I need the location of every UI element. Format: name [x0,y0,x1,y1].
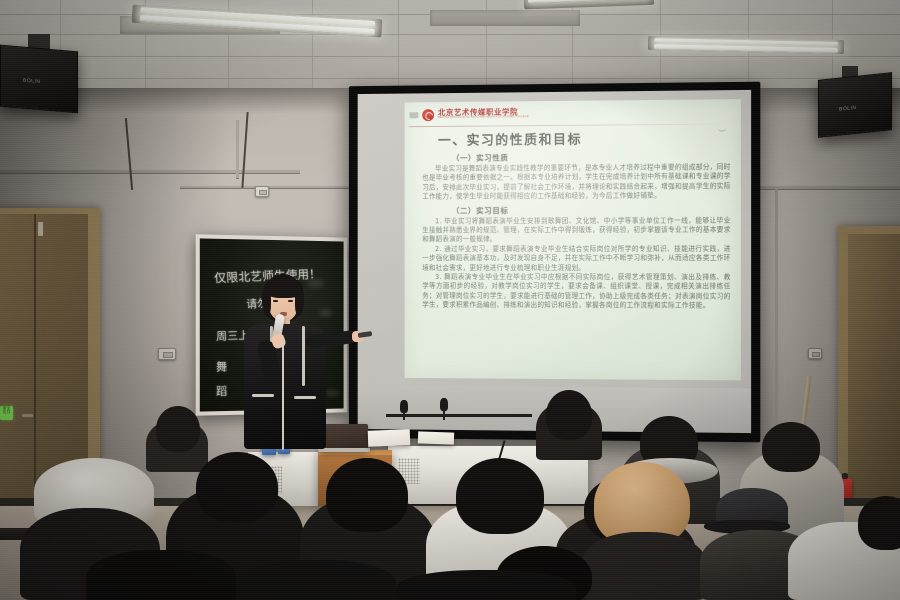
college-logo-text: 北京艺术传媒职业学院 BEIJING INSTITUTE OF ARTS AND… [438,108,529,120]
slide-section-2-heading: （二）实习目标 [452,204,731,216]
slide-header-square-icon [409,112,418,118]
speaker-right-brand-label: BOLIN [839,105,857,113]
left-door-top-hinge [38,222,43,236]
audience-body [86,550,236,600]
audience-body [396,570,576,600]
wall-speaker-right: BOLIN [818,72,892,138]
audience-body [236,560,396,600]
presenter-jacket-trim-right [302,326,305,386]
blackboard-line-4: 舞 [216,358,227,374]
presenter-hair-right [295,286,304,316]
audience-body [582,532,706,600]
presenter-hair-left [262,286,271,316]
slide-title: 一、实习的性质和目标 [438,129,582,149]
slide-section-1-heading: （一）实习性质 [452,151,731,164]
slide-section-1-body: 毕业实习是舞蹈表演专业实践性教学的重要环节，是本专业人才培养过程中重要的组成部分… [422,163,730,202]
wall-conduit-vertical [236,120,239,178]
power-outlet-mid[interactable] [255,186,269,197]
slide-section-2-item-2: 2. 通过毕业实习，要求舞蹈表演专业毕业生结合实际岗位对所学的专业知识、技能进行… [422,245,730,274]
slide-body: （一）实习性质 毕业实习是舞蹈表演专业实践性教学的重要环节，是本专业人才培养过程… [422,148,730,311]
audience-head [196,452,278,522]
presenter-eye-right [288,300,293,302]
slide-section-2-item-3: 3. 舞蹈表演专业毕业生在毕业实习中应根据不同实际岗位，获得艺术管理策划、演出及… [422,273,730,311]
slide-section-2-item-1: 1. 毕业实习将舞蹈表演毕业生安排到歌舞团、文化馆、中小学等事业单位工作一线，能… [422,216,730,245]
wall-speaker-left: BOLIN [0,45,78,114]
presenter-eye-left [273,300,278,302]
projector-screen: 北京艺术传媒职业学院 BEIJING INSTITUTE OF ARTS AND… [349,82,760,443]
blackboard-line-5: 蹈 [216,383,227,399]
presenter-jacket-pocket-trim-2 [294,396,316,399]
audience-head [326,458,408,532]
photo-classroom-presentation: BOLIN BOLIN 安全出口 仅限北艺师生使用！ 请勿 周三上午 舞 蹈 [0,0,900,600]
slide-page-mark [717,127,726,132]
audience-head [858,496,900,550]
audience-head [546,390,592,440]
audience [0,400,900,600]
audience-head [156,406,200,452]
projected-slide: 北京艺术传媒职业学院 BEIJING INSTITUTE OF ARTS AND… [405,99,741,380]
presenter-jacket-pocket-trim [252,394,274,397]
projector-screen-surface: 北京艺术传媒职业学院 BEIJING INSTITUTE OF ARTS AND… [358,90,751,433]
college-name-en: BEIJING INSTITUTE OF ARTS AND MEDIA VOCA… [438,117,529,120]
speaker-left-brand-label: BOLIN [23,78,41,86]
college-logo-icon [422,109,434,121]
audience-head [762,422,820,472]
audience-head [456,458,544,534]
